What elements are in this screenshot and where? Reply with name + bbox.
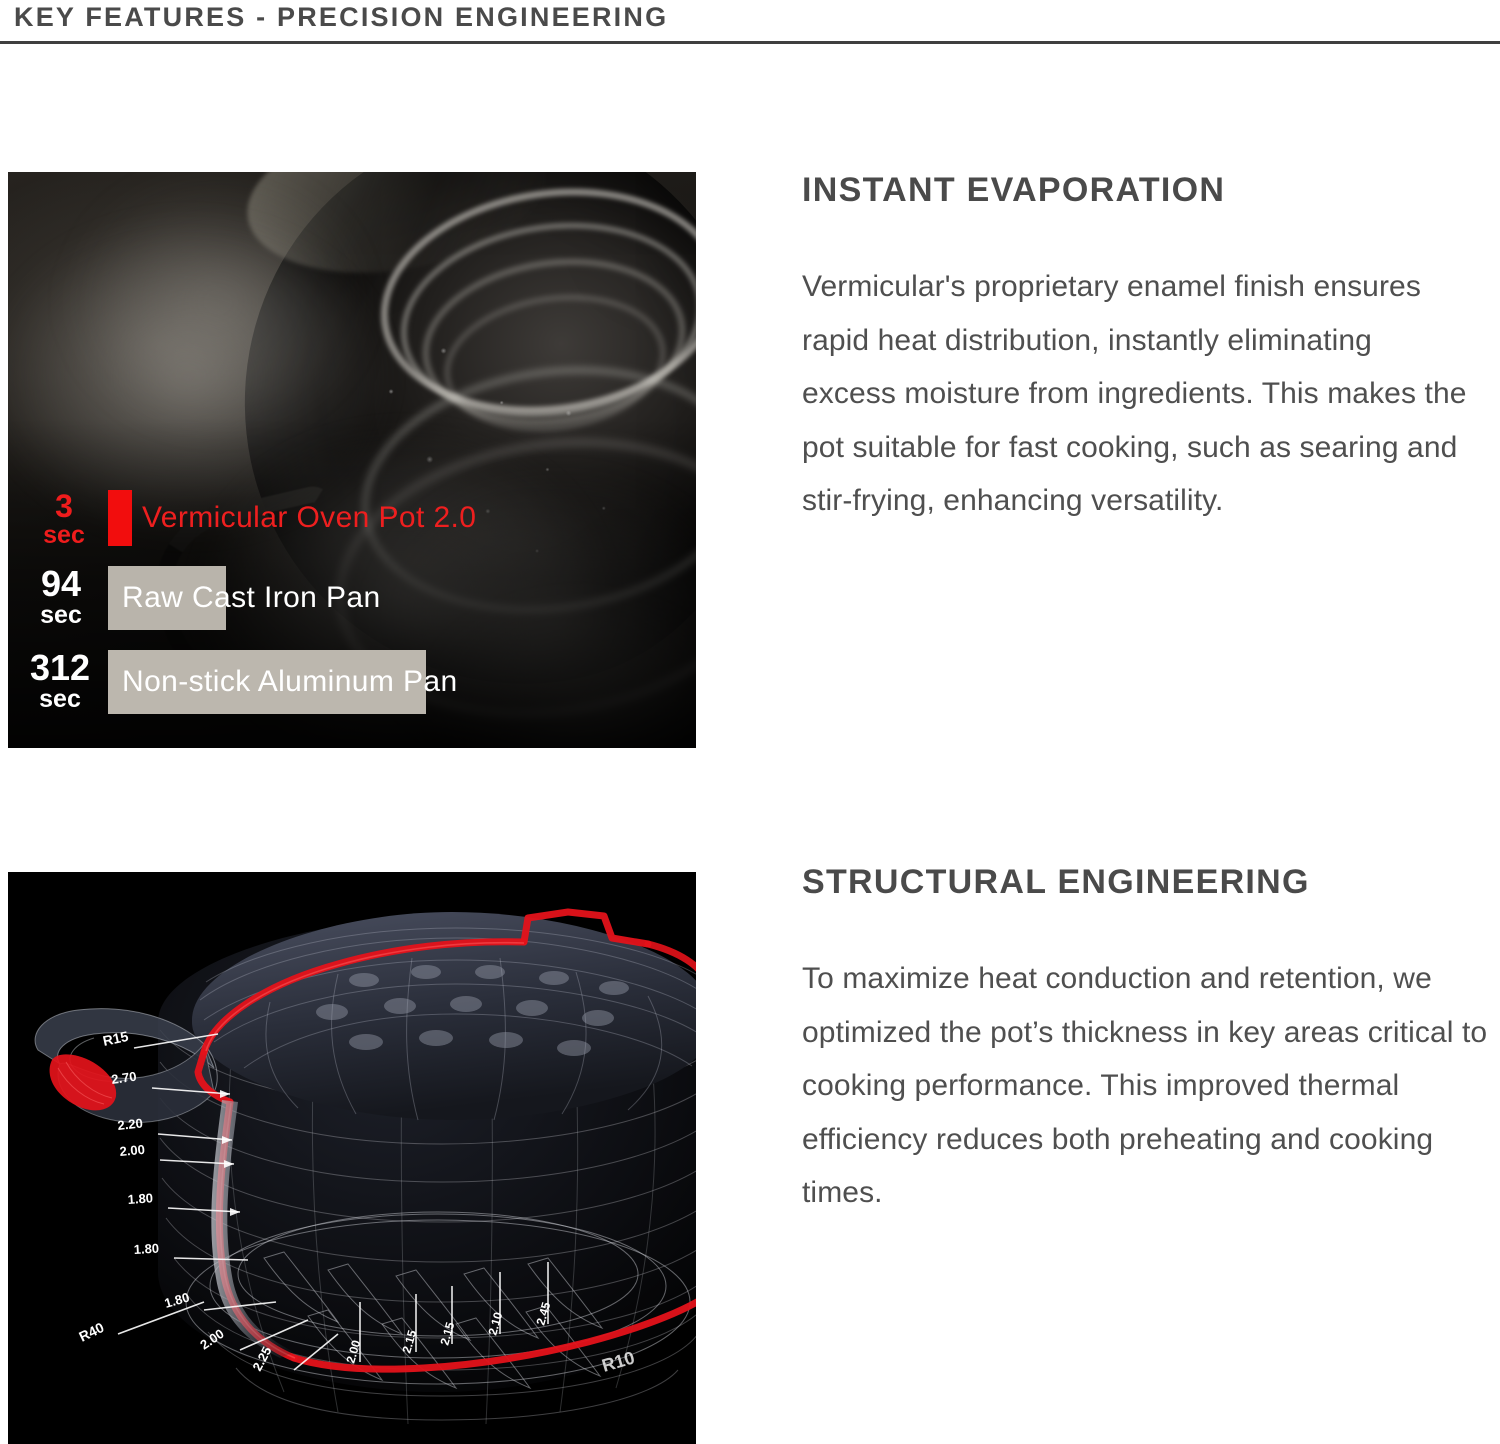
- chart-bar: [108, 490, 132, 546]
- dim-220: 2.20: [117, 1115, 144, 1133]
- section-body: Vermicular's proprietary enamel finish e…: [802, 260, 1474, 528]
- dim-180b: 1.80: [133, 1241, 159, 1257]
- chart-value-label: 312 sec: [14, 650, 106, 712]
- chart-series-label: Vermicular Oven Pot 2.0: [142, 501, 476, 535]
- chart-row-vermicular: 3 sec Vermicular Oven Pot 2.0: [8, 490, 696, 546]
- chart-series-label: Non-stick Aluminum Pan: [122, 665, 458, 699]
- page-header: KEY FEATURES - PRECISION ENGINEERING: [0, 0, 1500, 46]
- section-heading: STRUCTURAL ENGINEERING: [802, 862, 1492, 902]
- chart-value-number: 3: [24, 490, 104, 522]
- instant-evaporation-media: 3 sec Vermicular Oven Pot 2.0 94 sec Raw…: [8, 172, 696, 748]
- chart-series-label: Raw Cast Iron Pan: [122, 581, 381, 615]
- chart-value-label: 3 sec: [24, 490, 104, 548]
- instant-evaporation-copy: INSTANT EVAPORATION Vermicular's proprie…: [802, 170, 1474, 528]
- cad-wireframe-illustration: R15 2.70 2.20 2.00 1.80 1.80 1.80 R40 2.…: [8, 872, 696, 1444]
- chart-value-number: 94: [18, 566, 104, 602]
- section-heading: INSTANT EVAPORATION: [802, 170, 1474, 210]
- chart-value-unit: sec: [14, 687, 106, 712]
- chart-row-raw-cast-iron: 94 sec Raw Cast Iron Pan: [8, 566, 696, 630]
- chart-value-unit: sec: [18, 603, 104, 628]
- structural-engineering-copy: STRUCTURAL ENGINEERING To maximize heat …: [802, 862, 1492, 1220]
- chart-value-unit: sec: [24, 523, 104, 548]
- header-divider: [0, 41, 1500, 44]
- page-title: KEY FEATURES - PRECISION ENGINEERING: [14, 1, 668, 33]
- chart-row-non-stick-aluminum: 312 sec Non-stick Aluminum Pan: [8, 650, 696, 714]
- chart-value-number: 312: [14, 650, 106, 686]
- dim-200a: 2.00: [119, 1142, 146, 1159]
- structural-engineering-media: R15 2.70 2.20 2.00 1.80 1.80 1.80 R40 2.…: [8, 872, 696, 1444]
- dim-180a: 1.80: [127, 1190, 153, 1207]
- evaporation-time-bar-chart: 3 sec Vermicular Oven Pot 2.0 94 sec Raw…: [8, 484, 696, 748]
- chart-value-label: 94 sec: [18, 566, 104, 628]
- cad-wireframe-svg: R15 2.70 2.20 2.00 1.80 1.80 1.80 R40 2.…: [8, 872, 696, 1444]
- section-body: To maximize heat conduction and retentio…: [802, 952, 1492, 1220]
